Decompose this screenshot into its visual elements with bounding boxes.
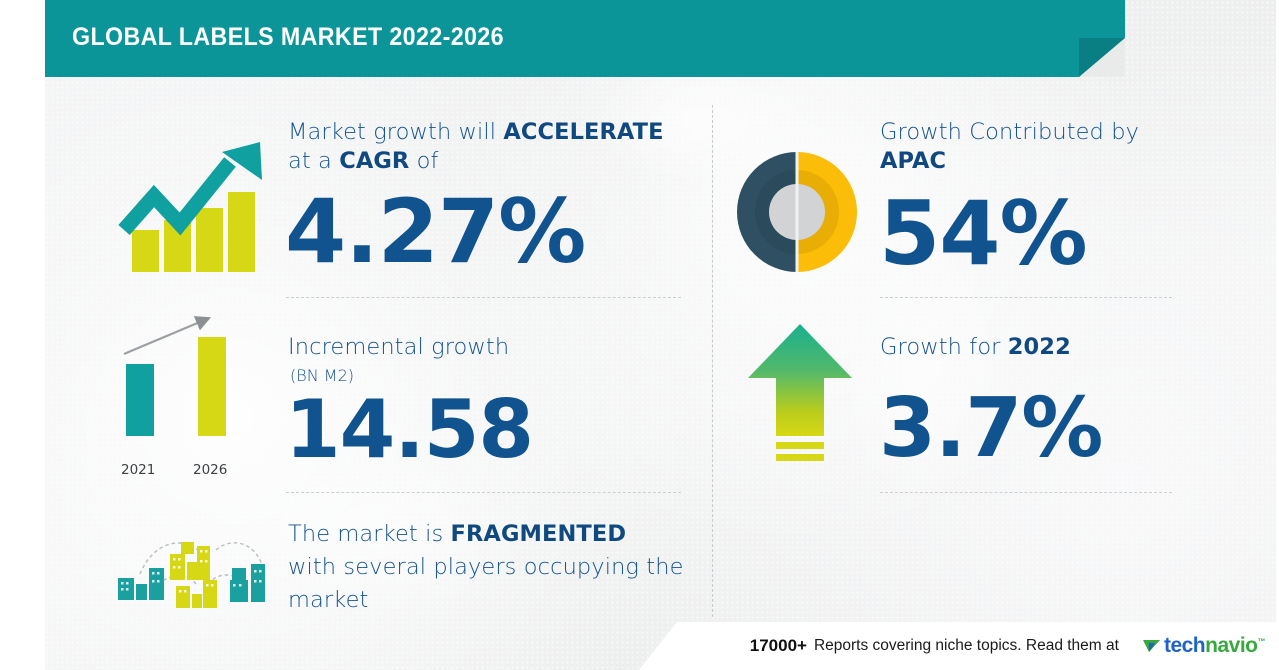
cagr-caption-line1: Market growth will ACCELERATE <box>288 118 688 147</box>
apac-line1: Growth Contributed by <box>880 118 1180 147</box>
apac-caption: Growth Contributed by APAC <box>880 118 1180 176</box>
up-arrow-icon <box>740 318 860 470</box>
technavio-logo[interactable]: technavio™ <box>1142 634 1265 658</box>
donut-chart-icon <box>733 148 861 276</box>
infographic-canvas: GLOBAL LABELS MARKET 2022-2026 Market gr… <box>0 0 1279 670</box>
fragmented-line2: with several players occupying the <box>288 551 688 584</box>
header-banner: GLOBAL LABELS MARKET 2022-2026 <box>45 0 1124 77</box>
header-fold-corner <box>1079 0 1125 77</box>
left-margin-strip <box>0 0 45 670</box>
cagr-line2-bold: CAGR <box>339 148 409 174</box>
bar-chart-icon <box>112 308 272 458</box>
cagr-line2-pre: at a <box>288 148 339 174</box>
fragmented-line3: market <box>288 584 688 617</box>
growth-arrow-icon <box>118 132 273 280</box>
reports-count: 17000+ <box>750 636 807 656</box>
apac-value: 54% <box>879 190 1087 278</box>
logo-tech: tech <box>1164 634 1205 657</box>
growth2022-line1-bold: 2022 <box>1008 334 1071 360</box>
fragmented-line1-pre: The market is <box>288 521 451 547</box>
divider-vertical <box>712 105 713 617</box>
fragmented-line1-bold: FRAGMENTED <box>451 521 627 547</box>
footer-content: 17000+ Reports covering niche topics. Re… <box>750 622 1265 670</box>
footer-tagline: Reports covering niche topics. Read them… <box>814 637 1119 655</box>
logo-trademark: ™ <box>1258 637 1266 646</box>
incremental-label: Incremental growth <box>288 333 509 362</box>
bar-year-start-label: 2021 <box>121 462 155 478</box>
page-title: GLOBAL LABELS MARKET 2022-2026 <box>72 23 504 52</box>
cagr-caption-line2: at a CAGR of <box>288 147 688 176</box>
growth2022-line1-pre: Growth for <box>880 334 1008 360</box>
cagr-value: 4.27% <box>285 188 585 276</box>
incremental-value: 14.58 <box>285 390 533 470</box>
fragmented-caption: The market is FRAGMENTED with several pl… <box>288 518 688 617</box>
technavio-wordmark: technavio™ <box>1164 634 1265 658</box>
cagr-line1-pre: Market growth will <box>288 119 503 145</box>
cagr-line1-bold: ACCELERATE <box>503 119 663 145</box>
divider-left-1 <box>286 297 681 298</box>
footer: 17000+ Reports covering niche topics. Re… <box>0 622 1279 670</box>
logo-navio: navio <box>1205 634 1257 657</box>
fragmented-line1: The market is FRAGMENTED <box>288 518 688 551</box>
buildings-network-icon <box>112 522 282 610</box>
apac-line2-bold: APAC <box>880 148 946 174</box>
cagr-caption: Market growth will ACCELERATE at a CAGR … <box>288 118 688 176</box>
bar-year-end-label: 2026 <box>193 462 227 478</box>
growth2022-value: 3.7% <box>879 388 1102 470</box>
divider-right-1 <box>880 297 1172 298</box>
divider-right-2 <box>880 492 1172 493</box>
growth2022-caption: Growth for 2022 <box>880 333 1180 362</box>
technavio-logo-icon <box>1142 636 1162 656</box>
apac-line2: APAC <box>880 147 1180 176</box>
divider-left-2 <box>286 492 681 493</box>
cagr-line2-post: of <box>409 148 438 174</box>
